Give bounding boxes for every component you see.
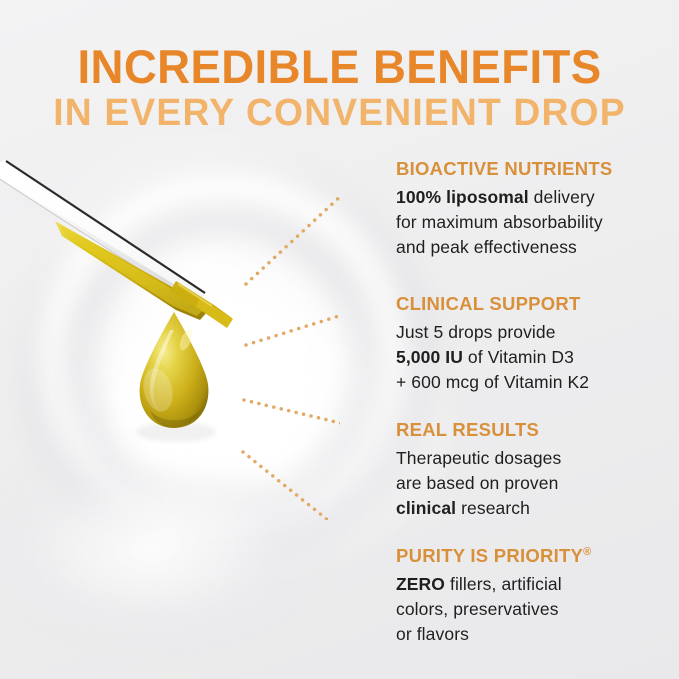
connector-dot	[313, 218, 317, 222]
benefit-text: Just 5 drops provide	[396, 322, 556, 342]
connector-dot	[253, 460, 257, 464]
connector-dot	[244, 282, 248, 286]
benefit-text: + 600 mcg of Vitamin K2	[396, 372, 589, 392]
benefit-body-line: for maximum absorbability	[396, 210, 679, 235]
connector-dot	[247, 455, 251, 459]
connector-dot	[307, 503, 311, 507]
connector-dot	[296, 234, 300, 238]
connector-dot	[277, 479, 281, 483]
benefit-highlight: 5,000 IU	[396, 347, 463, 367]
connector-dot	[274, 334, 278, 338]
connector-dot	[294, 411, 298, 415]
connector-dot	[242, 398, 246, 402]
connector-dot	[282, 331, 286, 335]
connector-dot	[265, 469, 269, 473]
promo-graphic: INCREDIBLE BENEFITS IN EVERY CONVENIENT …	[0, 0, 679, 679]
connector-dot	[261, 266, 265, 270]
connector-dot	[312, 322, 316, 326]
connector-dot	[283, 484, 287, 488]
benefit-body: 100% liposomal deliveryfor maximum absor…	[396, 185, 679, 261]
connector-dot	[324, 418, 328, 422]
benefit-body-line: colors, preservatives	[396, 597, 679, 622]
connector-dot	[309, 414, 313, 418]
connector-dot	[257, 402, 261, 406]
benefit-title: PURITY IS PRIORITY®	[396, 545, 679, 567]
connector-dot	[290, 240, 294, 244]
connector-dot	[336, 197, 340, 201]
benefit-text: are based on proven	[396, 473, 558, 493]
benefit-body-line: clinical research	[396, 496, 679, 521]
benefit-text: for maximum absorbability	[396, 212, 603, 232]
connector-dot	[284, 245, 288, 249]
connector-bioactive-nutrients	[244, 165, 340, 286]
benefit-block-purity-is-priority: PURITY IS PRIORITY® ZERO fillers, artifi…	[396, 545, 679, 648]
connector-dot	[330, 202, 334, 206]
benefit-block-clinical-support: CLINICAL SUPPORT Just 5 drops provide5,0…	[396, 293, 679, 396]
connector-dot	[273, 256, 277, 260]
benefit-highlight: 100% liposomal	[396, 187, 529, 207]
connector-dot	[271, 474, 275, 478]
benefit-highlight: clinical	[396, 498, 456, 518]
connector-dot	[302, 412, 306, 416]
connector-dot	[259, 465, 263, 469]
benefit-body: ZERO fillers, artificialcolors, preserva…	[396, 572, 679, 648]
benefit-title: CLINICAL SUPPORT	[396, 293, 679, 315]
benefit-block-bioactive-nutrients: BIOACTIVE NUTRIENTS 100% liposomal deliv…	[396, 158, 679, 261]
connector-dot	[317, 416, 321, 420]
benefit-highlight: ZERO	[396, 574, 445, 594]
benefit-text: Therapeutic dosages	[396, 448, 561, 468]
connector-dot	[301, 498, 305, 502]
benefit-text: or flavors	[396, 624, 469, 644]
benefit-title-text: CLINICAL SUPPORT	[396, 293, 581, 314]
connector-dot	[324, 208, 328, 212]
connector-dot	[259, 339, 263, 343]
connector-dot	[279, 250, 283, 254]
oil-drop	[136, 312, 216, 442]
connector-dot	[297, 327, 301, 331]
connector-dot	[339, 421, 340, 425]
connector-dot	[267, 336, 271, 340]
connector-dot	[244, 343, 248, 347]
connector-dot	[256, 272, 260, 276]
connector-dot	[335, 315, 339, 319]
benefit-body-line: and peak effectiveness	[396, 235, 679, 260]
connector-dot	[252, 341, 256, 345]
benefit-title: REAL RESULTS	[396, 419, 679, 441]
benefit-body: Therapeutic dosagesare based on provencl…	[396, 446, 679, 522]
benefit-title-text: REAL RESULTS	[396, 419, 539, 440]
benefit-text: research	[456, 498, 530, 518]
benefit-title: BIOACTIVE NUTRIENTS	[396, 158, 679, 180]
connector-purity-is-priority	[241, 450, 340, 520]
connector-dot	[327, 317, 331, 321]
benefit-text: delivery	[529, 187, 595, 207]
benefit-text: fillers, artificial	[445, 574, 562, 594]
connector-real-results	[242, 398, 340, 434]
connector-dot	[332, 420, 336, 424]
connector-dot	[319, 512, 323, 516]
benefit-body-line: Therapeutic dosages	[396, 446, 679, 471]
connector-dot	[319, 213, 323, 217]
connector-dot	[289, 329, 293, 333]
connector-dot	[265, 404, 269, 408]
benefit-body-line: + 600 mcg of Vitamin K2	[396, 370, 679, 395]
connector-dot	[287, 409, 291, 413]
registered-mark: ®	[583, 546, 591, 558]
benefit-body-line: 100% liposomal delivery	[396, 185, 679, 210]
connector-dot	[320, 320, 324, 324]
connector-dot	[313, 508, 317, 512]
connector-clinical-support	[244, 303, 340, 347]
dropper-illustration	[0, 0, 340, 520]
benefit-text: and peak effectiveness	[396, 237, 577, 257]
connector-dot	[304, 324, 308, 328]
benefit-text: of Vitamin D3	[463, 347, 574, 367]
benefit-body-line: 5,000 IU of Vitamin D3	[396, 345, 679, 370]
connector-dot	[267, 261, 271, 265]
connector-dot	[302, 229, 306, 233]
dotted-connectors	[241, 165, 340, 520]
connector-dot	[250, 400, 254, 404]
glass-dropper-pipette	[0, 160, 233, 328]
benefit-body-line: ZERO fillers, artificial	[396, 572, 679, 597]
connector-dot	[289, 489, 293, 493]
benefit-title-text: BIOACTIVE NUTRIENTS	[396, 158, 612, 179]
connector-dot	[241, 450, 245, 454]
benefit-text: colors, preservatives	[396, 599, 559, 619]
connector-dot	[250, 277, 254, 281]
connector-dot	[295, 493, 299, 497]
connector-dot	[325, 517, 329, 520]
benefit-title-text: PURITY IS PRIORITY	[396, 545, 583, 566]
benefit-body-line: are based on proven	[396, 471, 679, 496]
benefit-body-line: or flavors	[396, 622, 679, 647]
connector-dot	[272, 405, 276, 409]
benefit-body: Just 5 drops provide5,000 IU of Vitamin …	[396, 320, 679, 396]
benefit-block-real-results: REAL RESULTS Therapeutic dosagesare base…	[396, 419, 679, 522]
benefit-body-line: Just 5 drops provide	[396, 320, 679, 345]
connector-dot	[307, 224, 311, 228]
connector-dot	[279, 407, 283, 411]
